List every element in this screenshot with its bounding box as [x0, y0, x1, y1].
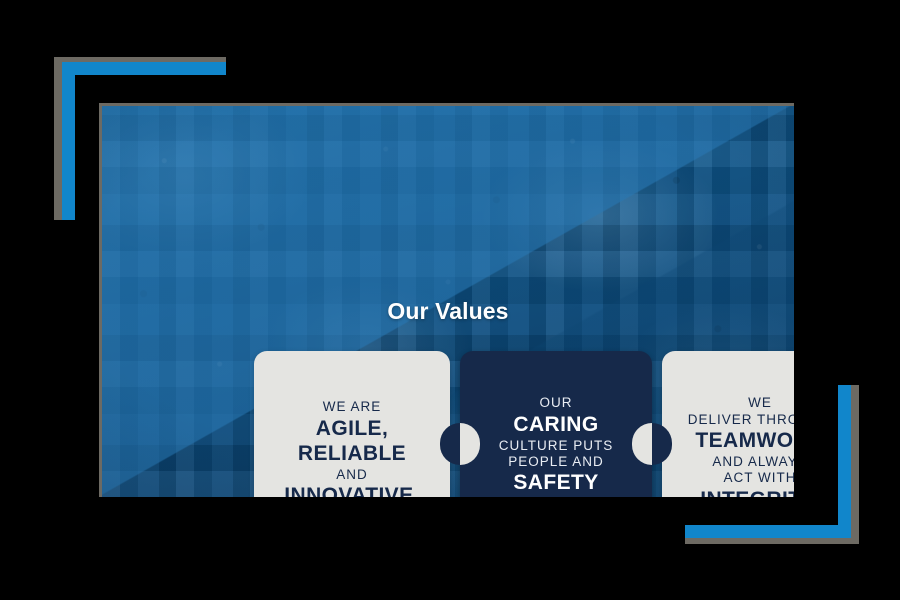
card-line: SAFETY — [513, 470, 598, 496]
value-card-teamwork[interactable]: WE DELIVER THROUGH TEAMWORK AND ALWAYS A… — [662, 351, 794, 497]
card-line: OUR — [540, 395, 573, 411]
values-slide: Our Values WE ARE AGILE, RELIABLE AND IN… — [102, 106, 794, 497]
card-line: WE — [748, 395, 772, 411]
bracket-arm-vertical — [838, 385, 851, 538]
bracket-arm-horizontal — [62, 62, 226, 75]
card-line: AND — [336, 467, 368, 483]
slide-stage: Our Values WE ARE AGILE, RELIABLE AND IN… — [0, 0, 900, 600]
bracket-arm-vertical — [62, 62, 75, 220]
card-line: INTEGRITY. — [700, 487, 794, 497]
card-line: RELIABLE — [298, 441, 406, 467]
card-line: PEOPLE AND — [508, 454, 604, 470]
card-line: ACT WITH — [724, 470, 795, 486]
card-line: DELIVER THROUGH — [688, 412, 794, 428]
card-line: CULTURE PUTS — [499, 438, 614, 454]
value-card-agile[interactable]: WE ARE AGILE, RELIABLE AND INNOVATIVE. — [254, 351, 450, 497]
bracket-arm-horizontal — [685, 525, 851, 538]
card-line: WE ARE — [323, 399, 382, 415]
card-line: AND ALWAYS — [712, 454, 794, 470]
card-line: AGILE, — [316, 416, 388, 442]
card-line: CARING — [513, 412, 598, 438]
values-card-row: WE ARE AGILE, RELIABLE AND INNOVATIVE. O… — [254, 351, 794, 497]
value-card-caring[interactable]: OUR CARING CULTURE PUTS PEOPLE AND SAFET… — [460, 351, 652, 497]
card-line: INNOVATIVE. — [284, 483, 419, 497]
page-title: Our Values — [102, 298, 794, 325]
card-line: FIRST. — [532, 496, 579, 497]
card-line: TEAMWORK — [695, 428, 794, 454]
